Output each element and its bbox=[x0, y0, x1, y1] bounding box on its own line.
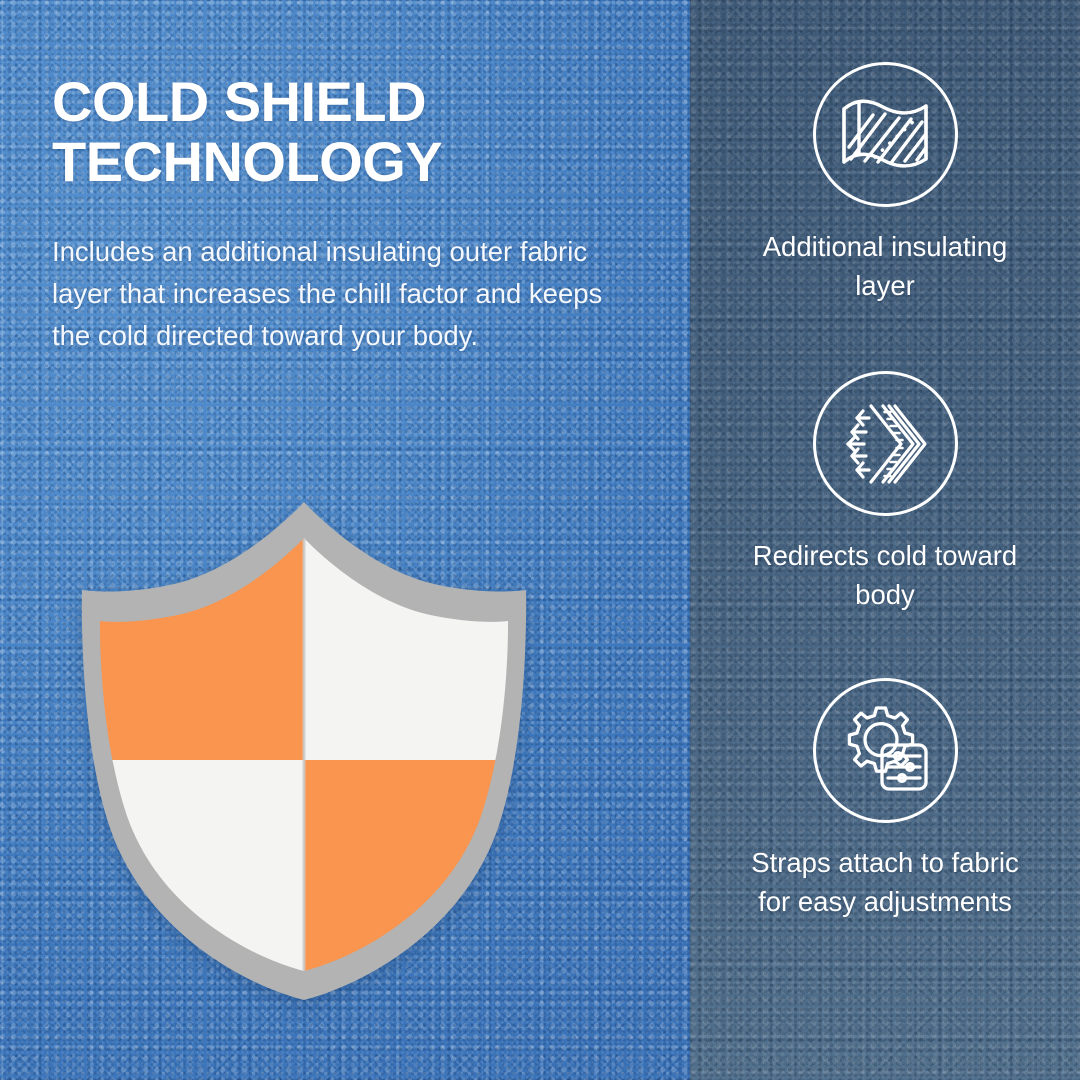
left-content: COLD SHIELD TECHNOLOGY Includes an addit… bbox=[0, 0, 690, 356]
fabric-layer-icon bbox=[813, 62, 958, 207]
feature-label: Redirects cold toward body bbox=[750, 536, 1020, 614]
right-feature-panel: Additional insulating layer bbox=[690, 0, 1080, 1080]
quartered-shield-graphic bbox=[78, 498, 530, 1004]
infographic-canvas: COLD SHIELD TECHNOLOGY Includes an addit… bbox=[0, 0, 1080, 1080]
description-text: Includes an additional insulating outer … bbox=[52, 231, 612, 356]
feature-item-insulating-layer: Additional insulating layer bbox=[706, 62, 1064, 305]
gear-settings-sliders-icon bbox=[813, 678, 958, 823]
left-panel: COLD SHIELD TECHNOLOGY Includes an addit… bbox=[0, 0, 690, 1080]
feature-label: Straps attach to fabric for easy adjustm… bbox=[750, 843, 1020, 921]
layered-chevron-redirect-icon bbox=[813, 371, 958, 516]
feature-item-redirects-cold: Redirects cold toward body bbox=[706, 371, 1064, 614]
page-title: COLD SHIELD TECHNOLOGY bbox=[52, 72, 612, 193]
feature-item-strap-adjustments: Straps attach to fabric for easy adjustm… bbox=[706, 678, 1064, 921]
feature-label: Additional insulating layer bbox=[750, 227, 1020, 305]
feature-list: Additional insulating layer bbox=[690, 0, 1080, 921]
